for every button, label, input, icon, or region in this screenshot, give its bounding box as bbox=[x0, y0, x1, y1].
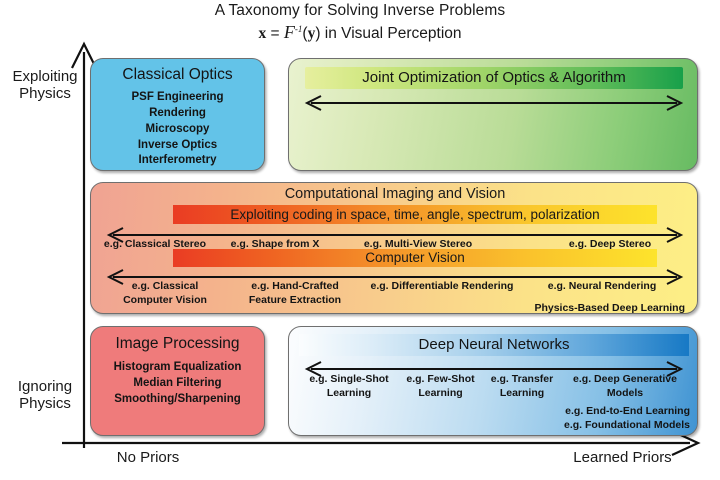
y-axis-label-top: Exploiting Physics bbox=[6, 68, 84, 103]
y-axis-label-bottom: Ignoring Physics bbox=[6, 378, 84, 413]
list-item: e.g. Hand-Crafted bbox=[236, 280, 354, 294]
civ-example-shape-from-x: e.g. Shape from X bbox=[215, 238, 335, 252]
computational-imaging-title: Computational Imaging and Vision bbox=[91, 186, 699, 202]
civ-example-neural-rendering: e.g. Neural Rendering bbox=[532, 280, 672, 294]
civ-footnote-physics-based-deep-learning: Physics-Based Deep Learning bbox=[470, 302, 685, 316]
x-axis-label-right: Learned Priors bbox=[540, 449, 705, 466]
civ-example-deep-stereo: e.g. Deep Stereo bbox=[560, 238, 660, 252]
list-item: PSF Engineering bbox=[91, 90, 264, 106]
deep-neural-networks-header-bar: Deep Neural Networks bbox=[299, 334, 689, 356]
joint-optimization-title: Joint Optimization of Optics & Algorithm bbox=[305, 67, 683, 89]
image-processing-items: Histogram Equalization Median Filtering … bbox=[91, 360, 264, 408]
exploiting-coding-label: Exploiting coding in space, time, angle,… bbox=[173, 205, 657, 224]
list-item: Computer Vision bbox=[110, 294, 220, 308]
dnn-example-deep-generative: e.g. Deep Generative Models bbox=[555, 373, 695, 400]
deep-neural-networks-title: Deep Neural Networks bbox=[299, 334, 689, 356]
civ-example-differentiable-rendering: e.g. Differentiable Rendering bbox=[362, 280, 522, 294]
list-item: Interferometry bbox=[91, 153, 264, 169]
civ-example-classical-cv: e.g. Classical Computer Vision bbox=[110, 280, 220, 307]
computer-vision-gradient-bar: Computer Vision bbox=[173, 249, 657, 267]
y-axis-label-bottom-line1: Ignoring bbox=[6, 378, 84, 395]
civ-example-classical-stereo: e.g. Classical Stereo bbox=[96, 238, 214, 252]
list-item: Microscopy bbox=[91, 122, 264, 138]
dnn-extra-end-to-end: e.g. End-to-End Learning bbox=[520, 405, 690, 419]
list-item: Histogram Equalization bbox=[91, 360, 264, 376]
civ-example-multi-view-stereo: e.g. Multi-View Stereo bbox=[338, 238, 498, 252]
image-processing-title: Image Processing bbox=[91, 335, 264, 353]
list-item: Models bbox=[555, 387, 695, 401]
list-item: e.g. Classical bbox=[110, 280, 220, 294]
y-axis-label-top-line1: Exploiting bbox=[6, 68, 84, 85]
list-item: Feature Extraction bbox=[236, 294, 354, 308]
exploiting-coding-gradient-bar: Exploiting coding in space, time, angle,… bbox=[173, 205, 657, 224]
civ-example-hand-crafted: e.g. Hand-Crafted Feature Extraction bbox=[236, 280, 354, 307]
joint-optimization-double-arrow bbox=[297, 95, 691, 111]
y-axis-label-bottom-line2: Physics bbox=[6, 395, 84, 412]
title-line-2: x = F-1(y) in Visual Perception bbox=[0, 22, 720, 43]
computer-vision-label: Computer Vision bbox=[173, 249, 657, 267]
quadrant-classical-optics[interactable]: Classical Optics PSF Engineering Renderi… bbox=[90, 58, 265, 171]
list-item: e.g. Deep Generative bbox=[555, 373, 695, 387]
joint-optimization-header-bar: Joint Optimization of Optics & Algorithm bbox=[305, 67, 683, 89]
list-item: Smoothing/Sharpening bbox=[91, 392, 264, 408]
title-line-1: A Taxonomy for Solving Inverse Problems bbox=[0, 2, 720, 20]
list-item: Rendering bbox=[91, 106, 264, 122]
title-suffix: in Visual Perception bbox=[320, 25, 461, 42]
list-item: Median Filtering bbox=[91, 376, 264, 392]
quadrant-joint-optimization[interactable]: Joint Optimization of Optics & Algorithm… bbox=[288, 58, 698, 171]
math-F: F bbox=[284, 22, 295, 42]
x-axis-label-left: No Priors bbox=[88, 449, 208, 466]
page-title: A Taxonomy for Solving Inverse Problems … bbox=[0, 2, 720, 43]
math-eq: = bbox=[266, 25, 284, 42]
classical-optics-items: PSF Engineering Rendering Microscopy Inv… bbox=[91, 90, 264, 169]
classical-optics-title: Classical Optics bbox=[91, 66, 264, 84]
quadrant-image-processing[interactable]: Image Processing Histogram Equalization … bbox=[90, 326, 265, 436]
list-item: Inverse Optics bbox=[91, 138, 264, 154]
y-axis-label-top-line2: Physics bbox=[6, 85, 84, 102]
dnn-extra-foundational: e.g. Foundational Models bbox=[520, 419, 690, 433]
